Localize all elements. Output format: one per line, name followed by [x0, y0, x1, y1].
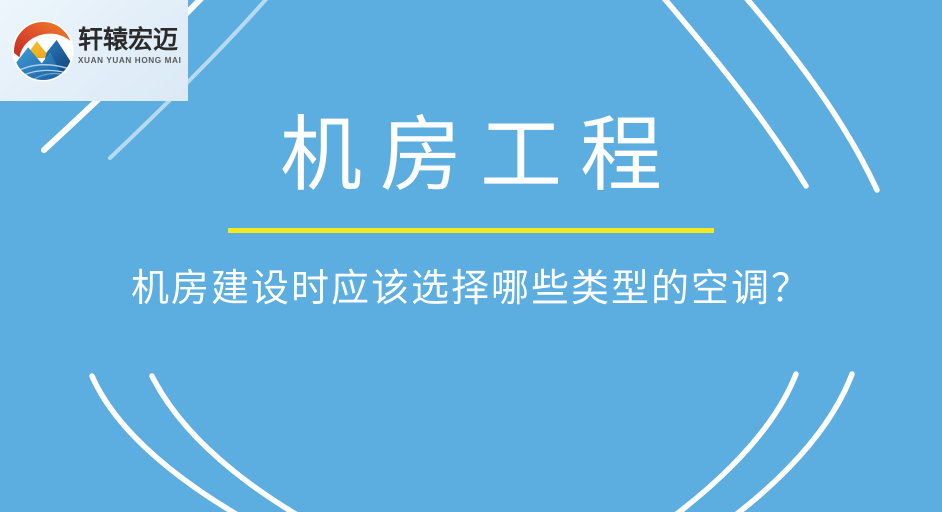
arc-bottom-right-outer	[688, 374, 852, 512]
subtitle-text: 机房建设时应该选择哪些类型的空调？	[131, 262, 811, 314]
arc-bottom-right-inner	[628, 374, 796, 512]
headline-text: 机房工程	[262, 108, 680, 204]
headline: 机房工程	[0, 108, 942, 204]
subtitle: 机房建设时应该选择哪些类型的空调？	[0, 262, 942, 314]
divider-rule	[228, 228, 714, 233]
divider	[0, 228, 942, 246]
logo-plate[interactable]: 轩辕宏迈 XUAN YUAN HONG MAI	[0, 0, 188, 101]
arc-bottom-left-inner	[92, 376, 300, 512]
arc-bottom-left-outer	[152, 376, 360, 512]
xuanyuan-hongmai-logo-icon	[12, 20, 74, 82]
logo-company-name-cn: 轩辕宏迈	[78, 26, 184, 54]
promotional-banner: 轩辕宏迈 XUAN YUAN HONG MAI 机房工程 机房建设时应该选择哪些…	[0, 0, 942, 512]
logo-company-name-en: XUAN YUAN HONG MAI	[78, 56, 184, 66]
logo-wordmark: 轩辕宏迈 XUAN YUAN HONG MAI	[78, 26, 184, 66]
